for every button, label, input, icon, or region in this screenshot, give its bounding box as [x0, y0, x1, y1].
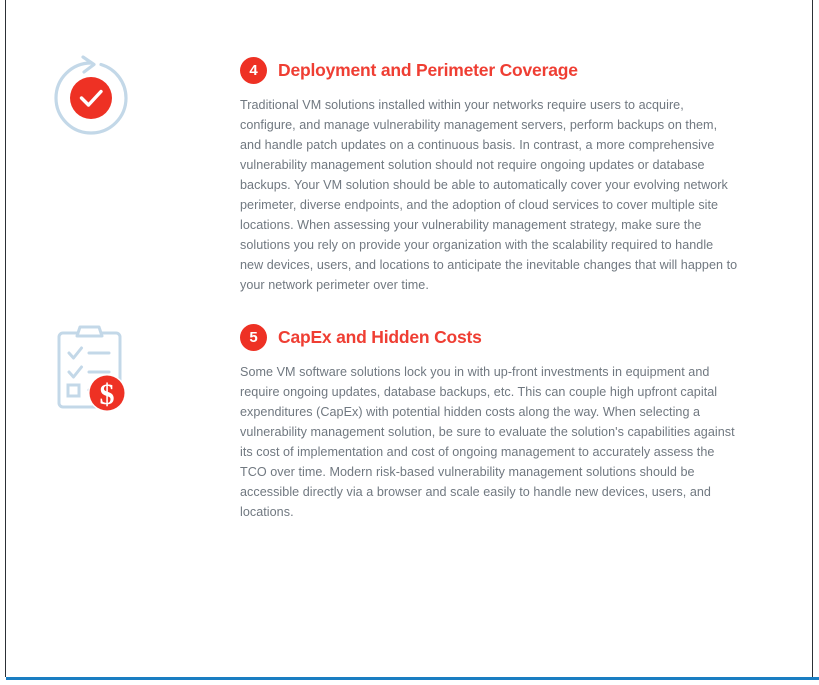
document-viewer: 4 Deployment and Perimeter Coverage Trad…: [0, 0, 819, 685]
page-right-border: [812, 0, 813, 677]
svg-text:$: $: [100, 378, 115, 411]
section-4-heading-row: 4 Deployment and Perimeter Coverage: [240, 55, 785, 85]
clipboard-dollar-icon: $: [49, 322, 139, 417]
section-4-body: 4 Deployment and Perimeter Coverage Trad…: [240, 55, 785, 308]
page-left-border: [5, 0, 6, 677]
section-heading: Deployment and Perimeter Coverage: [278, 60, 578, 81]
section-number-badge: 4: [240, 57, 267, 84]
section-5-heading-row: 5 CapEx and Hidden Costs: [240, 322, 785, 352]
section-number-badge: 5: [240, 324, 267, 351]
refresh-check-icon: [49, 55, 139, 150]
section-paragraph: Traditional VM solutions installed withi…: [240, 95, 738, 295]
vertical-scrollbar-track[interactable]: [802, 0, 812, 677]
section-heading: CapEx and Hidden Costs: [278, 327, 482, 348]
section-paragraph: Some VM software solutions lock you in w…: [240, 362, 738, 522]
section-5-body: 5 CapEx and Hidden Costs Some VM softwar…: [240, 322, 785, 535]
page-bottom-rule: [6, 677, 819, 680]
document-page: 4 Deployment and Perimeter Coverage Trad…: [6, 0, 812, 677]
